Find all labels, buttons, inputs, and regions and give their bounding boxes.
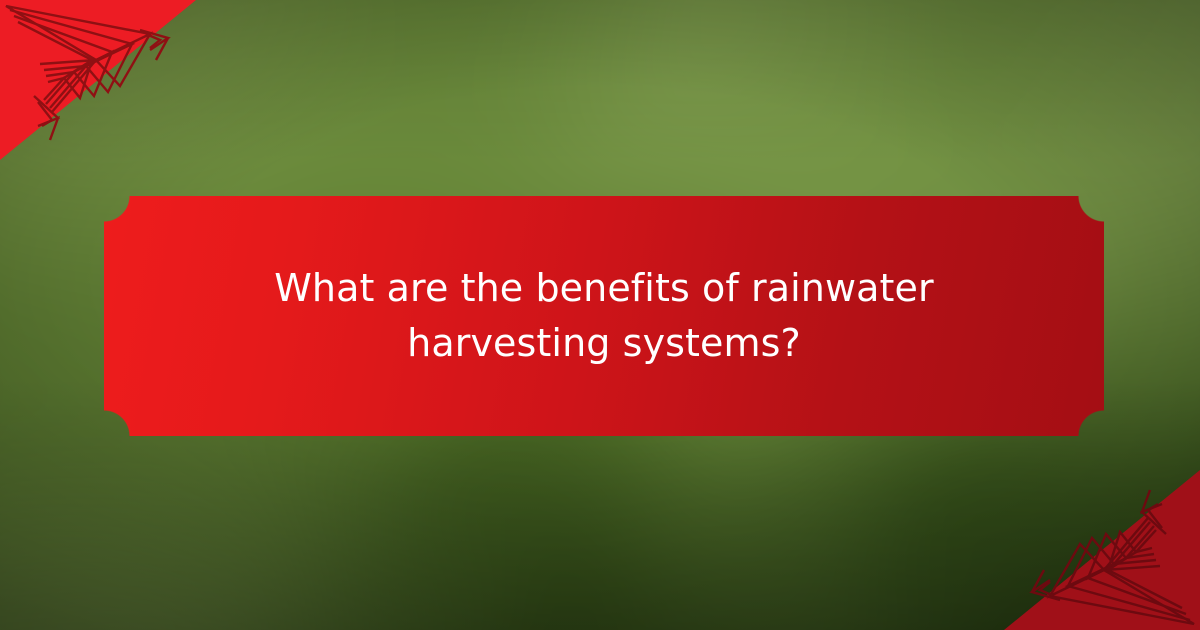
question-card-graphic: What are the benefits of rainwater harve… xyxy=(0,0,1200,630)
question-card-text-area: What are the benefits of rainwater harve… xyxy=(104,196,1104,436)
question-title: What are the benefits of rainwater harve… xyxy=(274,261,934,371)
question-card: What are the benefits of rainwater harve… xyxy=(104,196,1104,436)
